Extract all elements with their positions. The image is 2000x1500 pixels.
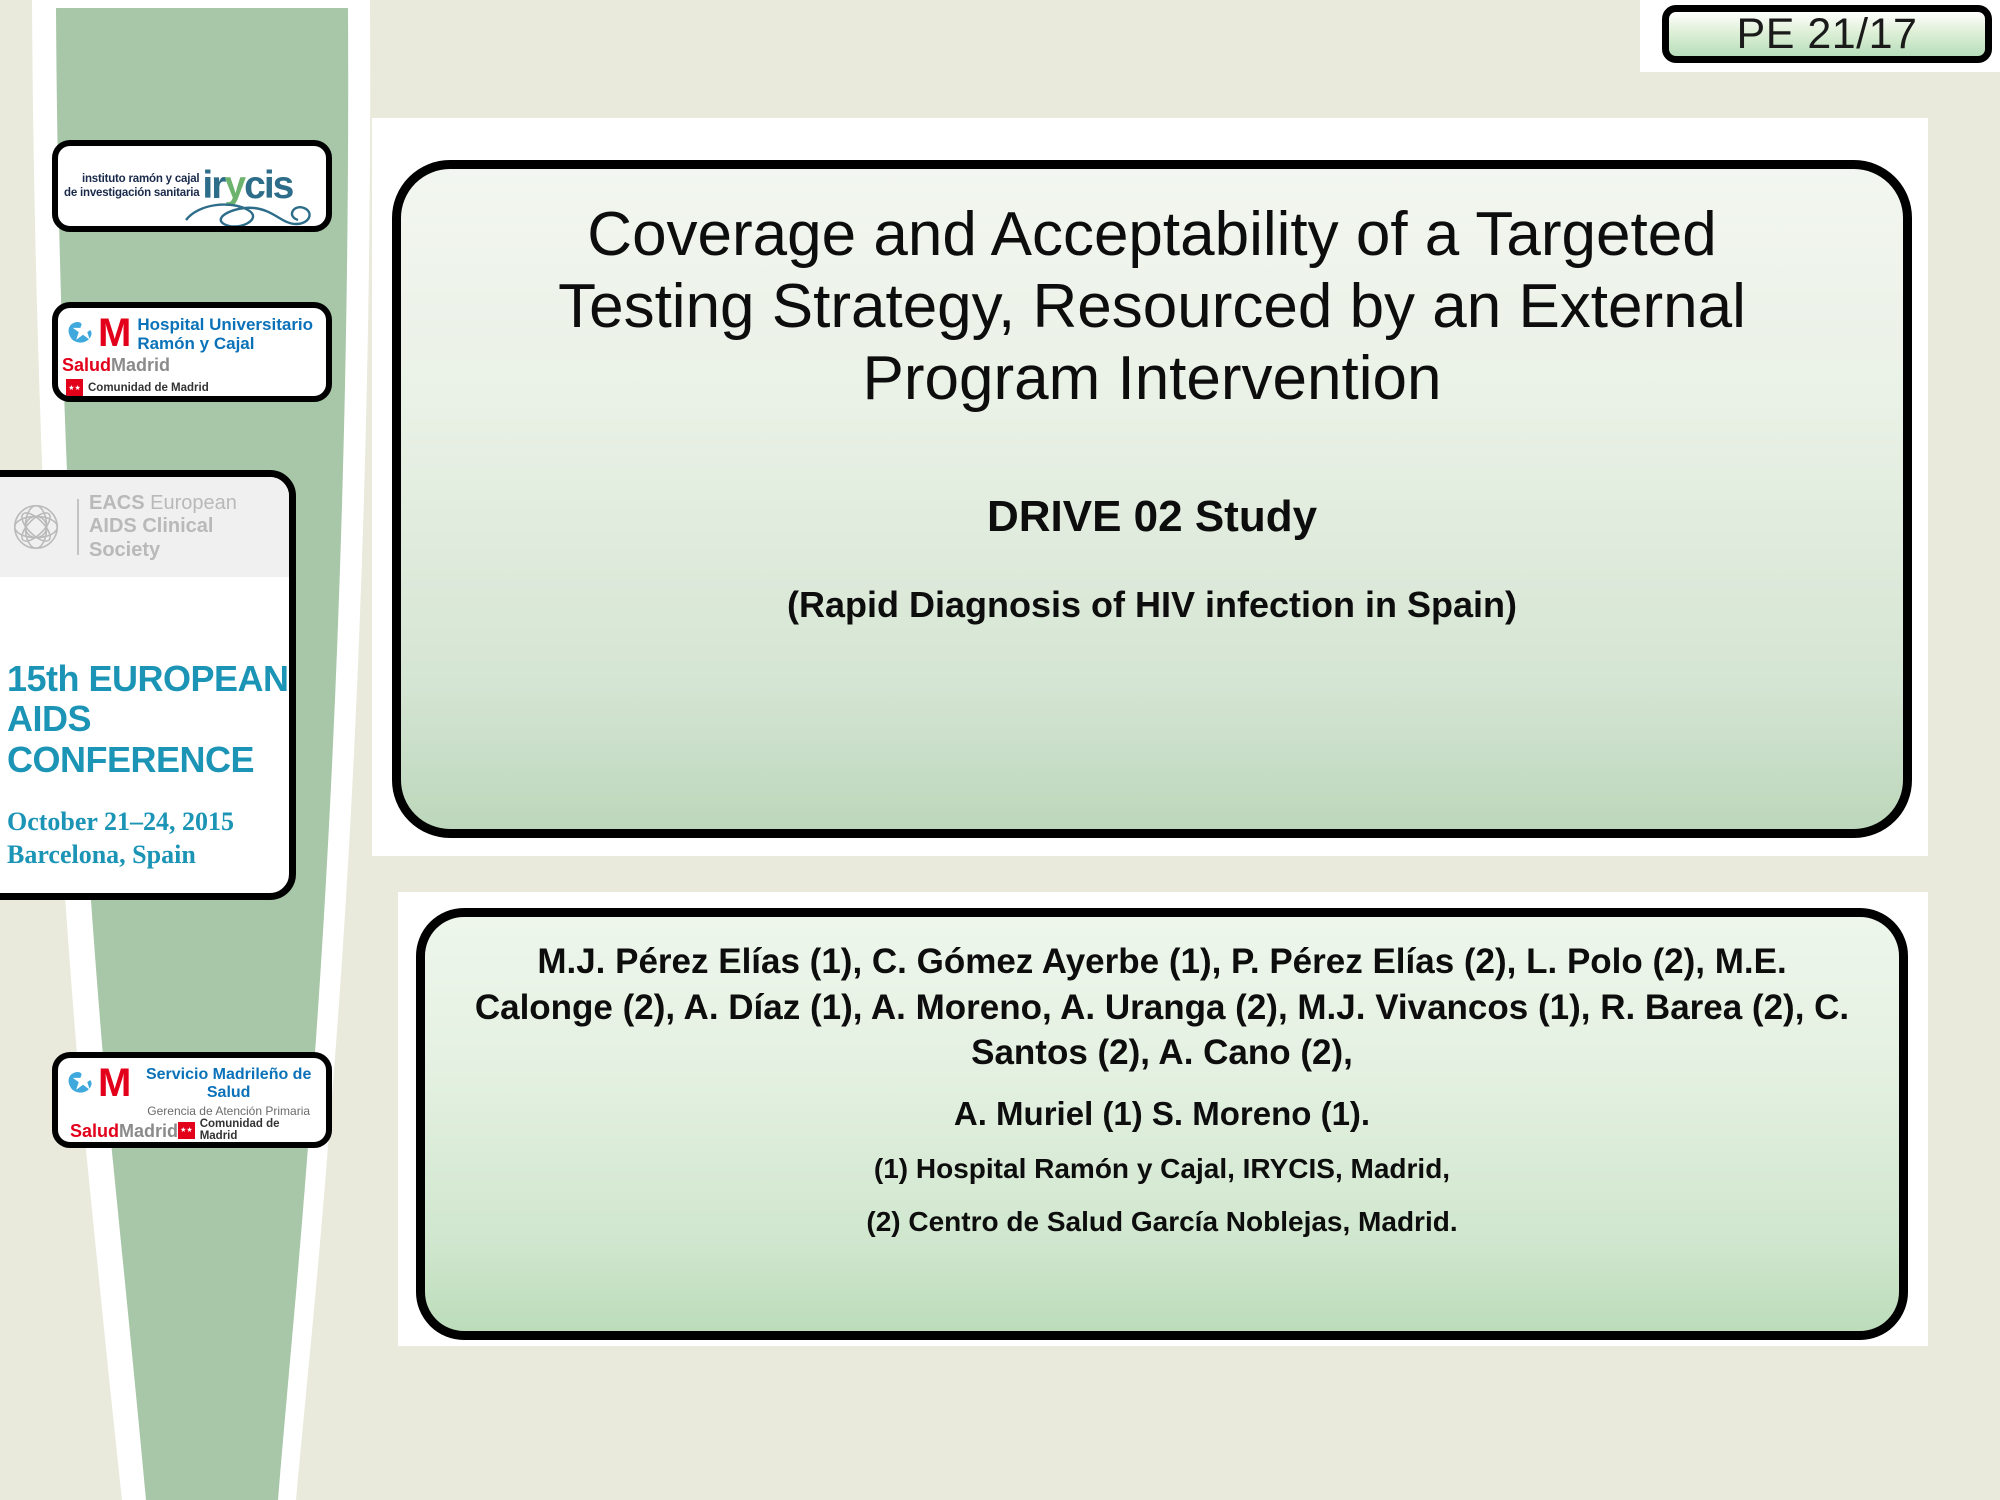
saludmadrid-star-icon [66, 316, 100, 350]
title-box: Coverage and Acceptability of a Targeted… [392, 160, 1912, 838]
author-list: M.J. Pérez Elías (1), C. Gómez Ayerbe (1… [465, 939, 1859, 1076]
conference-location: Barcelona, Spain [7, 839, 289, 870]
irycis-logo-card: instituto ramón y cajal de investigación… [52, 140, 332, 232]
saludmadrid-wordmark: SaludMadrid [62, 355, 326, 376]
saludmadrid-mark-2: M [66, 1066, 131, 1100]
conference-dates: October 21–24, 2015 [7, 806, 289, 837]
eacs-org-line-1: EACS European [89, 492, 289, 516]
saludmadrid-wordmark-2: SaludMadrid [70, 1121, 178, 1142]
affiliation-2: (2) Centro de Salud García Noblejas, Mad… [866, 1207, 1457, 1238]
poster-number-label: PE 21/17 [1737, 13, 1918, 56]
study-subtitle-block: DRIVE 02 Study (Rapid Diagnosis of HIV i… [482, 493, 1822, 625]
page-title: Coverage and Acceptability of a Targeted… [482, 199, 1822, 415]
hospital-ramon-cajal-logo-card: M Hospital Universitario Ramón y Cajal S… [52, 302, 332, 402]
irycis-line-1: instituto ramón y cajal [64, 172, 199, 186]
hospital-title-line-2: Ramón y Cajal [137, 335, 313, 354]
saludmadrid-madrid: Madrid [111, 355, 170, 375]
comunidad-madrid-flag-icon-2: ★★ [178, 1122, 195, 1139]
hospital-title: Hospital Universitario Ramón y Cajal [137, 316, 313, 353]
saludmadrid-m-letter: M [98, 317, 131, 349]
author-list-continued: A. Muriel (1) S. Moreno (1). [954, 1096, 1370, 1132]
irycis-swirl-icon [178, 194, 328, 232]
authors-box: M.J. Pérez Elías (1), C. Gómez Ayerbe (1… [416, 908, 1908, 1340]
comunidad-madrid-label: Comunidad de Madrid [88, 382, 209, 394]
eacs-conference-card: EACS European AIDS Clinical Society 15th… [0, 470, 296, 900]
comunidad-madrid-row: ★★ Comunidad de Madrid [58, 379, 326, 396]
hospital-logo-top-row: M Hospital Universitario Ramón y Cajal [58, 308, 326, 353]
saludmadrid-salud-2: Salud [70, 1121, 119, 1141]
eacs-conference-details: 15th EUROPEAN AIDS CONFERENCE October 21… [0, 577, 289, 870]
sms-title-line-2: Gerencia de Atención Primaria [137, 1105, 320, 1118]
eacs-org-line-2: AIDS Clinical Society [89, 515, 289, 562]
saludmadrid-madrid-2: Madrid [119, 1121, 178, 1141]
conference-title-line-1: 15th EUROPEAN [7, 659, 289, 699]
eacs-org-word-european: European [145, 492, 237, 514]
saludmadrid-star-icon-2 [66, 1066, 100, 1100]
sms-title-line-1: Servicio Madrileño de Salud [137, 1066, 320, 1101]
hospital-title-line-1: Hospital Universitario [137, 316, 313, 335]
affiliation-1: (1) Hospital Ramón y Cajal, IRYCIS, Madr… [874, 1154, 1450, 1185]
sms-logo-top-row: M Servicio Madrileño de Salud Gerencia d… [58, 1058, 326, 1118]
saludmadrid-m-letter-2: M [98, 1067, 131, 1099]
eacs-organization-name: EACS European AIDS Clinical Society [89, 492, 289, 563]
saludmadrid-mark: M [66, 316, 131, 350]
servicio-madrileno-salud-logo-card: M Servicio Madrileño de Salud Gerencia d… [52, 1052, 332, 1148]
eacs-knot-icon [7, 498, 65, 556]
study-expansion: (Rapid Diagnosis of HIV infection in Spa… [482, 585, 1822, 625]
study-name: DRIVE 02 Study [482, 493, 1822, 541]
comunidad-madrid-label-2: Comunidad de Madrid [200, 1118, 318, 1142]
comunidad-madrid-flag-icon: ★★ [66, 379, 83, 396]
eacs-acronym: EACS [89, 492, 145, 514]
comunidad-madrid-row-2: ★★ Comunidad de Madrid [178, 1118, 318, 1142]
eacs-header: EACS European AIDS Clinical Society [0, 477, 289, 577]
eacs-divider [77, 499, 79, 555]
poster-number-badge: PE 21/17 [1662, 5, 1992, 63]
saludmadrid-salud: Salud [62, 355, 111, 375]
sms-title: Servicio Madrileño de Salud Gerencia de … [137, 1066, 320, 1118]
conference-title-line-2: AIDS CONFERENCE [7, 699, 289, 780]
